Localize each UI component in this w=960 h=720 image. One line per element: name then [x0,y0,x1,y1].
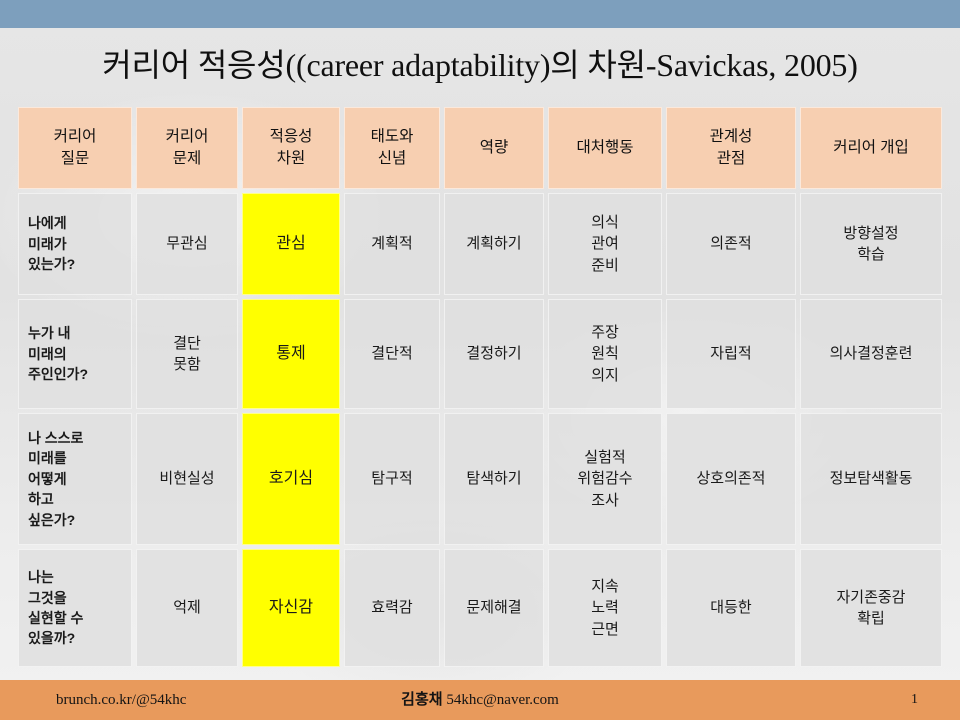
cell-coping: 의식관여준비 [548,193,662,295]
cell-intervention: 정보탐색활동 [800,413,942,545]
cell-problem: 억제 [136,549,238,667]
cell-question: 나 스스로미래를어떻게하고싶은가? [18,413,132,545]
column-header-coping-behavior: 대처행동 [548,107,662,189]
column-header-career-problem: 커리어문제 [136,107,238,189]
cell-dimension-highlighted: 관심 [242,193,340,295]
cell-dimension-highlighted: 통제 [242,299,340,409]
cell-coping: 지속노력근면 [548,549,662,667]
page-number: 1 [911,680,918,720]
slide-canvas: 커리어 적응성((career adaptability)의 차원-Savick… [0,0,960,720]
footer-author-name: 김홍채 [401,692,446,708]
cell-question: 나에게미래가있는가? [18,193,132,295]
cell-coping: 실험적위험감수조사 [548,413,662,545]
table-row: 나 스스로미래를어떻게하고싶은가? 비현실성 호기심 탐구적 탐색하기 실험적위… [18,413,942,545]
cell-attitude: 탐구적 [344,413,440,545]
table-row: 나는그것을실현할 수있을까? 억제 자신감 효력감 문제해결 지속노력근면 대등… [18,549,942,667]
footer-author-email[interactable]: 54khc@naver.com [446,692,559,708]
cell-relational: 상호의존적 [666,413,796,545]
cell-question: 누가 내미래의주인인가? [18,299,132,409]
cell-competence: 문제해결 [444,549,544,667]
cell-attitude: 계획적 [344,193,440,295]
cell-attitude: 결단적 [344,299,440,409]
footer-bar: brunch.co.kr/@54khc 김홍채 54khc@naver.com … [0,680,960,720]
cell-relational: 자립적 [666,299,796,409]
cell-competence: 계획하기 [444,193,544,295]
table-row: 누가 내미래의주인인가? 결단못함 통제 결단적 결정하기 주장원칙의지 자립적… [18,299,942,409]
footer-author: 김홍채 54khc@naver.com [0,680,960,720]
column-header-attitude-belief: 태도와신념 [344,107,440,189]
table-header-row: 커리어질문 커리어문제 적응성차원 태도와신념 역량 대처행동 관계성관점 커리… [18,107,942,189]
cell-dimension-highlighted: 자신감 [242,549,340,667]
page-title: 커리어 적응성((career adaptability)의 차원-Savick… [0,36,960,94]
table-row: 나에게미래가있는가? 무관심 관심 계획적 계획하기 의식관여준비 의존적 방향… [18,193,942,295]
cell-problem: 비현실성 [136,413,238,545]
cell-question: 나는그것을실현할 수있을까? [18,549,132,667]
column-header-career-question: 커리어질문 [18,107,132,189]
cell-competence: 탐색하기 [444,413,544,545]
cell-intervention: 의사결정훈련 [800,299,942,409]
cell-coping: 주장원칙의지 [548,299,662,409]
career-adaptability-table: 커리어질문 커리어문제 적응성차원 태도와신념 역량 대처행동 관계성관점 커리… [14,103,946,671]
cell-attitude: 효력감 [344,549,440,667]
cell-problem: 무관심 [136,193,238,295]
top-accent-band [0,0,960,28]
cell-problem: 결단못함 [136,299,238,409]
cell-relational: 의존적 [666,193,796,295]
cell-competence: 결정하기 [444,299,544,409]
column-header-adaptability-dimension: 적응성차원 [242,107,340,189]
column-header-career-intervention: 커리어 개입 [800,107,942,189]
cell-relational: 대등한 [666,549,796,667]
column-header-relational-perspective: 관계성관점 [666,107,796,189]
column-header-competence: 역량 [444,107,544,189]
cell-intervention: 자기존중감확립 [800,549,942,667]
cell-intervention: 방향설정학습 [800,193,942,295]
cell-dimension-highlighted: 호기심 [242,413,340,545]
